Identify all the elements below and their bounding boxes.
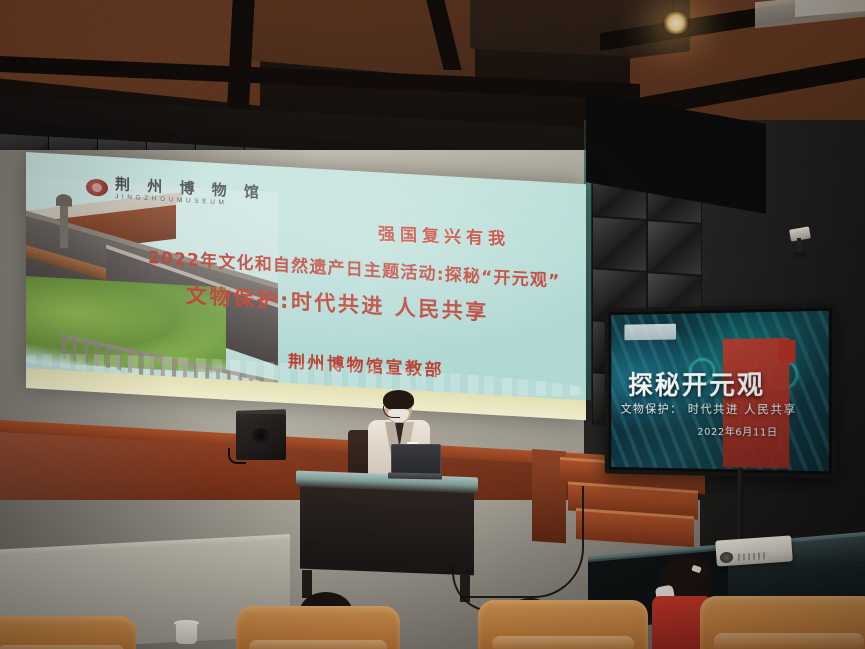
speaker-cable xyxy=(228,448,246,464)
screenshot-root: 荆 州 博 物 馆 JINGZHOUMUSEUM 强国复兴有我 2022年文化和… xyxy=(0,0,865,649)
tv-screen: 探秘开元观 文物保护： 时代共进 人民共享 2022年6月11日 xyxy=(611,311,828,471)
tv-title: 探秘开元观 xyxy=(628,365,765,402)
pyramid-panel xyxy=(647,220,702,276)
audience-seat[interactable] xyxy=(0,616,136,649)
pyramid-panel xyxy=(592,216,647,272)
seat-highlight xyxy=(249,640,387,649)
tv-red-seal xyxy=(779,340,795,363)
seat-highlight xyxy=(714,633,864,649)
camera-base xyxy=(793,252,807,257)
ceiling-panel xyxy=(0,0,260,106)
screen-glare xyxy=(26,152,586,420)
paper-cup xyxy=(176,622,197,644)
ceiling-spotlight-icon xyxy=(662,12,690,34)
presenter-desk xyxy=(296,474,478,600)
projection-screen: 荆 州 博 物 馆 JINGZHOUMUSEUM 强国复兴有我 2022年文化和… xyxy=(26,152,586,420)
headset-mic-icon xyxy=(383,406,400,418)
audience-seat[interactable] xyxy=(478,600,648,649)
laptop[interactable] xyxy=(388,444,442,480)
seat-highlight xyxy=(0,645,124,649)
seat-highlight xyxy=(492,636,635,649)
audience-seat[interactable] xyxy=(700,596,865,649)
desk-body xyxy=(300,485,474,576)
laptop-screen xyxy=(391,444,441,476)
audience-seat[interactable] xyxy=(236,606,400,649)
tv-date: 2022年6月11日 xyxy=(697,423,777,439)
tv-museum-logo xyxy=(624,324,676,341)
laptop-keyboard[interactable] xyxy=(388,473,442,480)
speaker-cone-icon xyxy=(252,428,270,443)
desk-leg xyxy=(302,570,312,598)
tv-monitor: 探秘开元观 文物保护： 时代共进 人民共享 2022年6月11日 xyxy=(605,303,836,478)
tv-subtitle: 文物保护： 时代共进 人民共享 xyxy=(621,401,797,418)
